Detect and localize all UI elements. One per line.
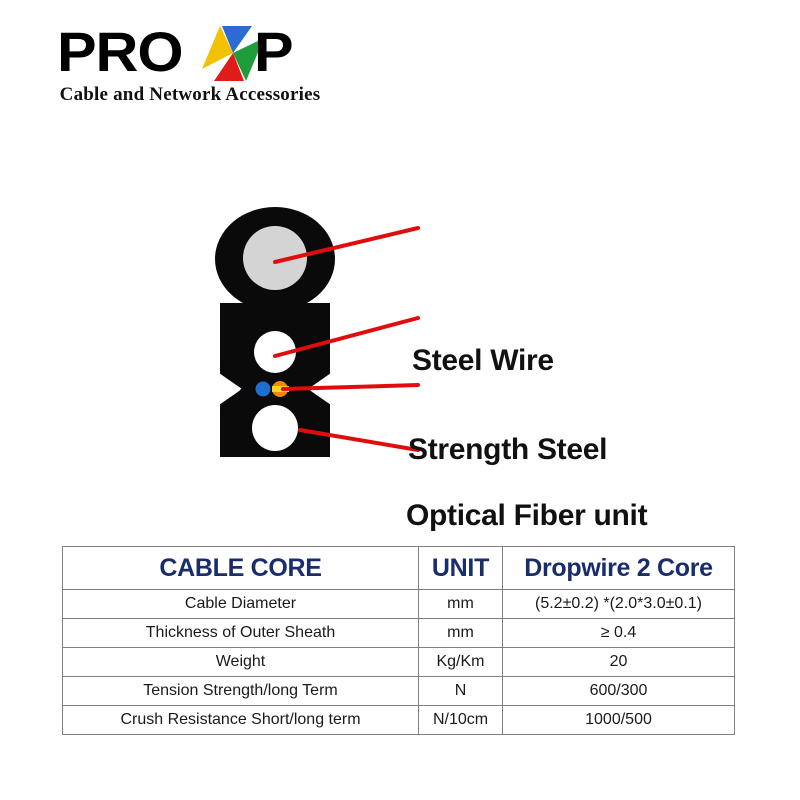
cell-parameter: Weight: [63, 648, 419, 677]
logo-wordmark: PRO P: [40, 22, 340, 82]
spec-table-body: Cable Diameter mm (5.2±0.2) *(2.0*3.0±0.…: [63, 590, 735, 735]
cell-parameter: Crush Resistance Short/long term: [63, 706, 419, 735]
cell-unit: mm: [419, 619, 503, 648]
table-row: Weight Kg/Km 20: [63, 648, 735, 677]
cable-diagram-svg: [180, 170, 620, 470]
logo-tagline: Cable and Network Accessories: [40, 82, 340, 108]
cell-value: 20: [503, 648, 735, 677]
cable-cross-section-diagram: Steel Wire Strength Steel Optical Fiber …: [0, 150, 800, 480]
callout-label-steel-wire: Steel Wire: [412, 344, 554, 378]
cell-unit: N/10cm: [419, 706, 503, 735]
cell-unit: mm: [419, 590, 503, 619]
table-row: Crush Resistance Short/long term N/10cm …: [63, 706, 735, 735]
callout-label-strength-steel: Strength Steel: [408, 433, 607, 467]
cell-value: (5.2±0.2) *(2.0*3.0±0.1): [503, 590, 735, 619]
cell-unit: Kg/Km: [419, 648, 503, 677]
spec-table-head: CABLE CORE UNIT Dropwire 2 Core: [63, 547, 735, 590]
cell-unit: N: [419, 677, 503, 706]
table-header-row: CABLE CORE UNIT Dropwire 2 Core: [63, 547, 735, 590]
cell-value: ≥ 0.4: [503, 619, 735, 648]
cell-value: 1000/500: [503, 706, 735, 735]
header-cable-core: CABLE CORE: [63, 547, 419, 590]
table-row: Tension Strength/long Term N 600/300: [63, 677, 735, 706]
table-row: Thickness of Outer Sheath mm ≥ 0.4: [63, 619, 735, 648]
header-dropwire-2-core: Dropwire 2 Core: [503, 547, 735, 590]
logo-word-pro: PRO: [57, 22, 182, 82]
table-row: Cable Diameter mm (5.2±0.2) *(2.0*3.0±0.…: [63, 590, 735, 619]
cell-parameter: Cable Diameter: [63, 590, 419, 619]
logo-word-p: P: [254, 22, 293, 82]
fiber-blue-icon: [256, 382, 271, 397]
jacket-lower-hole: [252, 405, 298, 451]
cell-parameter: Tension Strength/long Term: [63, 677, 419, 706]
callout-label-optical-fiber-unit: Optical Fiber unit: [406, 499, 647, 533]
brand-logo: PRO P Cable and Network Accessories: [40, 22, 340, 110]
spec-table-container: CABLE CORE UNIT Dropwire 2 Core Cable Di…: [62, 546, 731, 735]
cell-parameter: Thickness of Outer Sheath: [63, 619, 419, 648]
header-unit: UNIT: [419, 547, 503, 590]
cell-value: 600/300: [503, 677, 735, 706]
cable-spec-table: CABLE CORE UNIT Dropwire 2 Core Cable Di…: [62, 546, 735, 735]
